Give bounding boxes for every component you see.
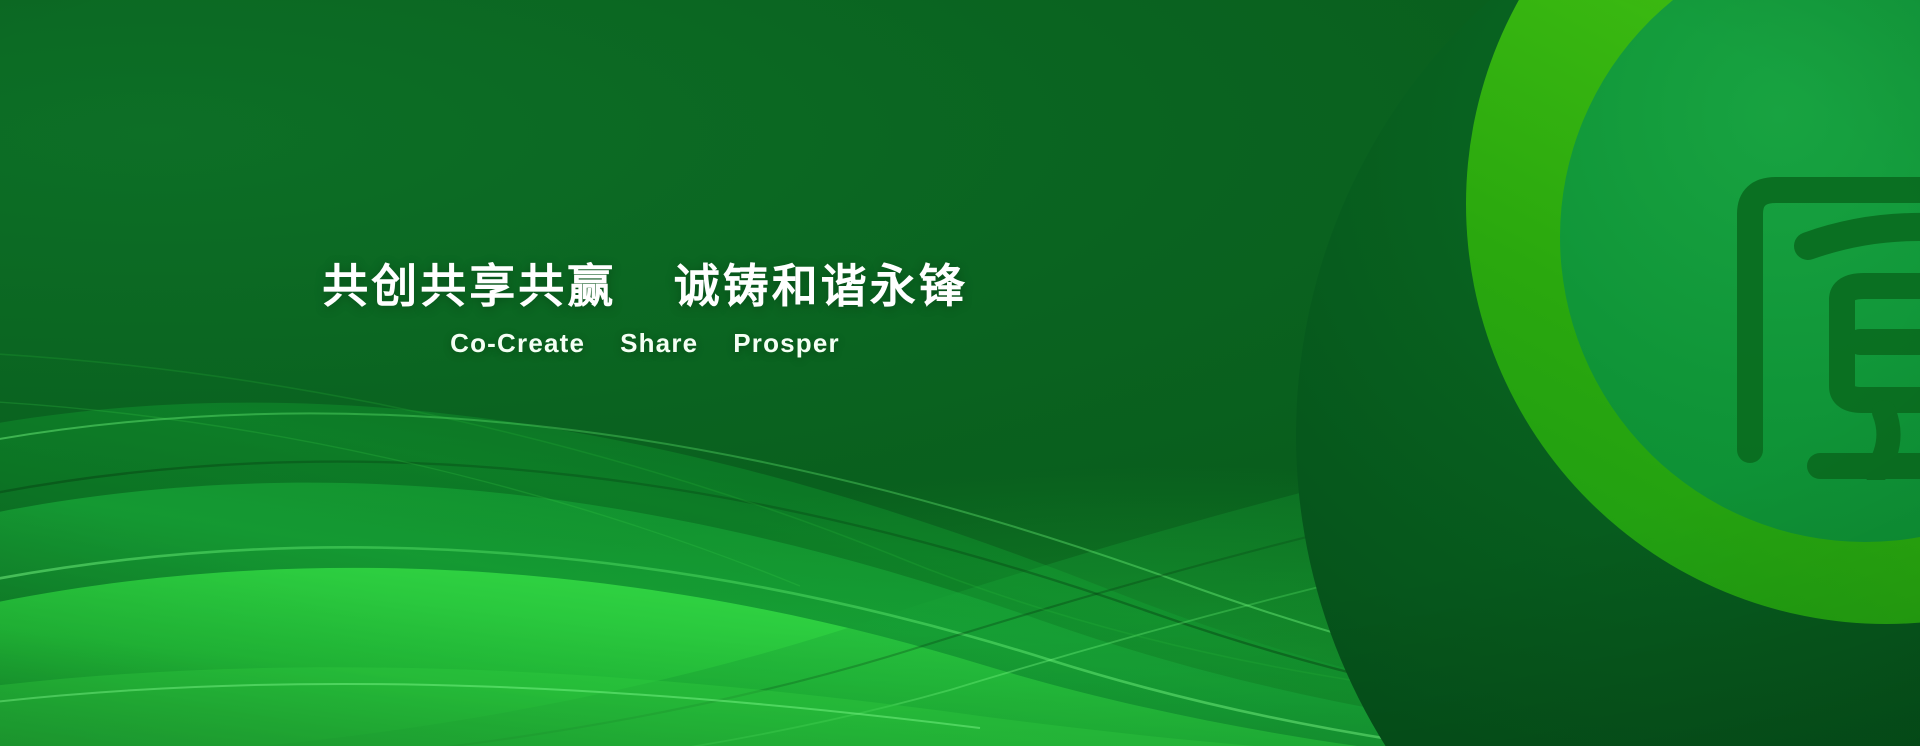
vignette-overlay [0,0,1920,746]
banner-root: 共创共享共赢 诚铸和谐永锋 Co-Create Share Prosper [0,0,1920,746]
